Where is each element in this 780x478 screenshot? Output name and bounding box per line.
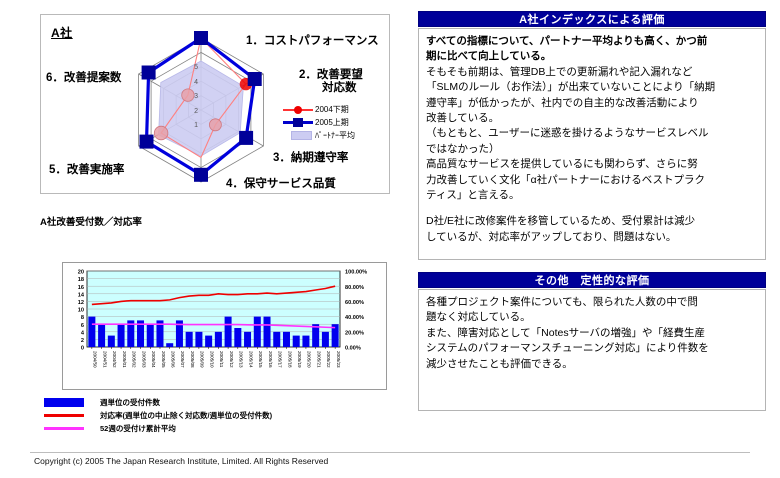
- y-axis-tick-label: 18: [78, 277, 84, 283]
- y2-axis-tick-label: 60.00%: [345, 300, 364, 306]
- footer-copyright: Copyright (c) 2005 The Japan Research In…: [34, 456, 328, 466]
- bar-legend-label-52week-average: 52週の受付け累計平均: [88, 423, 176, 434]
- paragraph-line: 題なく対応している。: [426, 310, 759, 325]
- y-axis-tick-label: 2: [81, 338, 84, 344]
- paragraph-line: 高品質なサービスを提供しているにも関わらず、さらに努: [426, 157, 759, 172]
- radar-series-partner-average: [159, 61, 244, 156]
- paragraph-line: D社/E社に改修案件を移管しているため、受付累計は減少: [426, 214, 759, 229]
- x-axis-tick-label: 2005/21: [316, 351, 321, 368]
- x-axis-tick-label: 2005/06: [171, 351, 176, 368]
- bar-legend-item-52week-average: 52週の受付け累計平均: [42, 422, 272, 435]
- paragraph-line: ティス」と言える。: [426, 188, 759, 203]
- x-axis-tick-label: 2004/50: [93, 351, 98, 368]
- svg-text:4: 4: [194, 79, 198, 86]
- bar-legend-label-response-rate: 対応率(週単位の中止除く対応数/週単位の受付件数): [88, 410, 272, 421]
- radar-legend: 2004下期 2005上期 ﾊﾟｰﾄﾅｰ平均: [283, 103, 387, 142]
- x-axis-tick-label: 2005/22: [326, 351, 331, 368]
- bar: [264, 317, 271, 347]
- x-axis-tick-label: 2005/01: [122, 351, 127, 368]
- svg-text:3: 3: [194, 93, 198, 100]
- paragraph-line: ではなかった）: [426, 142, 759, 157]
- section-body-other-qualitative: 各種プロジェクト案件についても、限られた人数の中で問題なく対応している。また、障…: [418, 289, 766, 411]
- radar-legend-item-2004h2: 2004下期: [283, 103, 387, 116]
- bar: [254, 317, 261, 347]
- footer-divider: [30, 452, 750, 453]
- x-axis-tick-label: 2005/16: [268, 351, 273, 368]
- section-header-index-evaluation: A社インデックスによる評価: [418, 11, 766, 27]
- y-axis-tick-label: 12: [78, 300, 84, 306]
- paragraph-line: 改善している。: [426, 111, 759, 126]
- bar: [215, 332, 222, 347]
- bar: [98, 324, 105, 347]
- bar-legend-item-response-rate: 対応率(週単位の中止除く対応数/週単位の受付件数): [42, 409, 272, 422]
- x-axis-tick-label: 2005/09: [200, 351, 205, 368]
- legend-marker-red-line: [42, 410, 88, 421]
- slide-page: A社: [0, 0, 780, 478]
- bar-chart-svg: 024681012141618200.00%20.00%40.00%60.00%…: [63, 263, 386, 389]
- paragraph-line: 遵守率」が低かったが、社内での自主的な改善活動により: [426, 96, 759, 111]
- paragraph-line: そもそも前期は、管理DB上での更新漏れや記入漏れなど: [426, 65, 759, 80]
- x-axis-tick-label: 2005/03: [141, 351, 146, 368]
- x-axis-tick-label: 2005/10: [209, 351, 214, 368]
- paragraph-line: 減少させたことも評価できる。: [426, 357, 759, 372]
- paragraph-line: 各種プロジェクト案件についても、限られた人数の中で問: [426, 295, 759, 310]
- x-axis-tick-label: 2005/17: [278, 351, 283, 368]
- bar: [205, 336, 212, 347]
- x-axis-tick-label: 2004/52: [112, 351, 117, 368]
- paragraph-line: 「SLMのルール（お作法）」が出来ていないことにより「納期: [426, 80, 759, 95]
- radar-legend-label-partner-average: ﾊﾟｰﾄﾅｰ平均: [313, 130, 355, 141]
- bar: [166, 343, 173, 347]
- radar-axis-label-4: 4．保守サービス品質: [226, 178, 336, 191]
- y2-axis-tick-label: 40.00%: [345, 315, 364, 321]
- x-axis-tick-label: 2005/07: [180, 351, 185, 368]
- x-axis-tick-label: 2005/20: [307, 351, 312, 368]
- y-axis-tick-label: 0: [81, 346, 84, 352]
- bar-legend-item-received: 週単位の受付件数: [42, 396, 272, 409]
- x-axis-tick-label: 2005/18: [287, 351, 292, 368]
- bar-legend-label-received: 週単位の受付件数: [88, 397, 160, 408]
- bar: [195, 332, 202, 347]
- bar: [273, 332, 280, 347]
- x-axis-tick-label: 2005/14: [248, 351, 253, 368]
- radar-chart-panel: A社: [40, 14, 390, 194]
- y2-axis-tick-label: 0.00%: [345, 346, 361, 352]
- paragraph-line: また、障害対応として「Notesサーバの増強」や「経費生産: [426, 326, 759, 341]
- x-axis-tick-label: 2004/51: [102, 351, 107, 368]
- radar-axis-label-6: 6．改善提案数: [46, 72, 121, 85]
- x-axis-tick-label: 2005/15: [258, 351, 263, 368]
- x-axis-tick-label: 2005/23: [336, 351, 341, 368]
- bar: [234, 328, 241, 347]
- paragraph-line: しているが、対応率がアップしており、問題はない。: [426, 230, 759, 245]
- section-header-other-qualitative: その他 定性的な評価: [418, 272, 766, 288]
- x-axis-tick-label: 2005/05: [161, 351, 166, 368]
- y-axis-tick-label: 14: [78, 292, 85, 298]
- paragraph-line: 期に比べて向上している。: [426, 49, 759, 64]
- radar-legend-label-2004h2: 2004下期: [313, 104, 349, 115]
- paragraph-line: システムのパフォーマンスチューニング対応」により件数を: [426, 341, 759, 356]
- svg-text:1: 1: [194, 122, 198, 129]
- y-axis-tick-label: 8: [81, 315, 84, 321]
- paragraph-line: すべての指標について、パートナー平均よりも高く、かつ前: [426, 34, 759, 49]
- x-axis-tick-label: 2005/11: [219, 351, 224, 368]
- legend-marker-blue-bar: [42, 397, 88, 408]
- y2-axis-tick-label: 80.00%: [345, 285, 364, 291]
- radar-axis-label-5: 5．改善実施率: [49, 164, 124, 177]
- paragraph-line: 力改善していく文化「α社パートナーにおけるベストプラク: [426, 173, 759, 188]
- bar-chart-legend: 週単位の受付件数 対応率(週単位の中止除く対応数/週単位の受付件数) 52週の受…: [42, 396, 272, 435]
- y-axis-tick-label: 6: [81, 323, 84, 329]
- bar: [283, 332, 290, 347]
- section-body-index-evaluation: すべての指標について、パートナー平均よりも高く、かつ前期に比べて向上している。そ…: [418, 28, 766, 260]
- legend-marker-area-swatch: [283, 130, 313, 141]
- paragraph-line: [426, 203, 759, 214]
- radar-axis-label-2: 2．改善要望 対応数: [299, 69, 363, 95]
- bar: [108, 336, 115, 347]
- x-axis-tick-label: 2005/12: [229, 351, 234, 368]
- x-axis-tick-label: 2005/13: [239, 351, 244, 368]
- y2-axis-tick-label: 100.00%: [345, 270, 367, 276]
- bar: [118, 324, 125, 347]
- x-axis-tick-label: 2005/04: [151, 351, 156, 368]
- bar: [293, 336, 300, 347]
- svg-text:2: 2: [194, 108, 198, 115]
- bar-chart-panel: 024681012141618200.00%20.00%40.00%60.00%…: [62, 262, 387, 390]
- radar-legend-item-partner-average: ﾊﾟｰﾄﾅｰ平均: [283, 129, 387, 142]
- radar-axis-label-1: 1．コストパフォーマンス: [246, 35, 379, 48]
- radar-legend-label-2005h1: 2005上期: [313, 117, 349, 128]
- bar: [186, 332, 193, 347]
- y2-axis-tick-label: 20.00%: [345, 330, 364, 336]
- radar-axis-label-3: 3．納期遵守率: [273, 152, 348, 165]
- bar: [147, 324, 154, 347]
- radar-legend-item-2005h1: 2005上期: [283, 116, 387, 129]
- y-axis-tick-label: 4: [81, 330, 85, 336]
- bar: [225, 317, 232, 347]
- bar-chart-title: A社改善受付数／対応率: [40, 214, 142, 228]
- y-axis-tick-label: 10: [78, 308, 84, 314]
- bar: [88, 317, 95, 347]
- x-axis-tick-label: 2005/19: [297, 351, 302, 368]
- legend-marker-magenta-line: [42, 423, 88, 434]
- x-axis-tick-label: 2005/02: [132, 351, 137, 368]
- y-axis-tick-label: 16: [78, 285, 84, 291]
- x-axis-tick-label: 2005/08: [190, 351, 195, 368]
- bar: [302, 336, 309, 347]
- bar: [322, 332, 329, 347]
- bar: [244, 332, 251, 347]
- y-axis-tick-label: 20: [78, 270, 84, 276]
- svg-text:5: 5: [194, 64, 198, 71]
- paragraph-line: （もともと、ユーザーに迷惑を掛けるようなサービスレベル: [426, 126, 759, 141]
- legend-marker-blue-square-line: [283, 117, 313, 128]
- legend-marker-red-circle-line: [283, 104, 313, 115]
